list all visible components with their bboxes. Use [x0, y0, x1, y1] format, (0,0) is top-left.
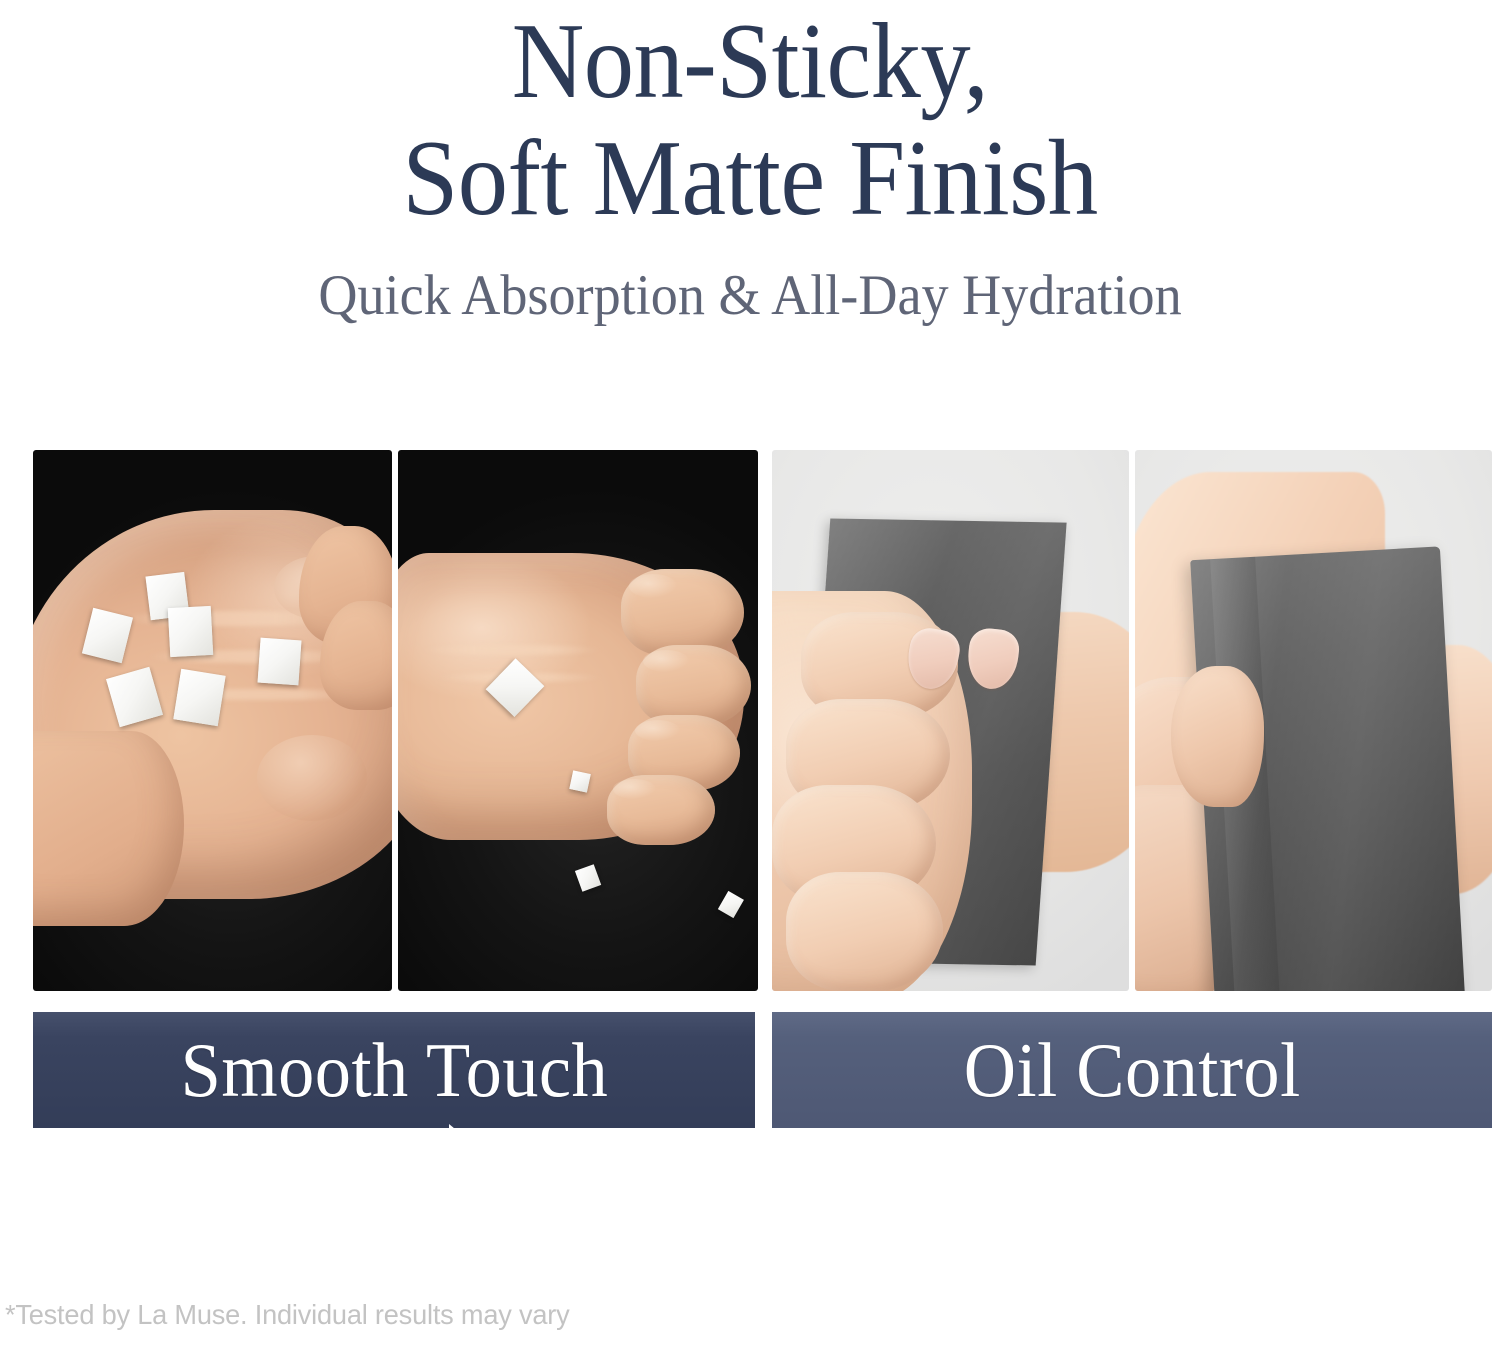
arrow-right-icon — [363, 1123, 504, 1216]
caption-label: Oil Control — [964, 1032, 1301, 1109]
header: Non-Sticky, Soft Matte Finish Quick Abso… — [0, 0, 1500, 328]
paper-square — [168, 606, 214, 657]
caption-label: Smooth Touch — [180, 1032, 608, 1109]
paper-square — [173, 669, 225, 726]
paper-square-falling — [569, 770, 591, 793]
caption-bar-smooth-touch: Smooth Touch — [33, 1012, 755, 1128]
photo-hand-with-paper-squares — [33, 450, 392, 991]
photo-blotting-paper-clean — [1135, 450, 1492, 991]
paper-square — [258, 638, 302, 686]
page-subtitle: Quick Absorption & All-Day Hydration — [38, 237, 1463, 328]
comparison-grid — [33, 450, 1492, 991]
headline-line-1: Non-Sticky, — [53, 4, 1448, 121]
paper-square-falling — [575, 864, 601, 891]
oil-control-photo-pair — [772, 450, 1492, 991]
caption-bar-oil-control: Oil Control — [772, 1012, 1492, 1128]
paper-square-falling — [718, 890, 744, 917]
photo-fist-squares-fallen — [398, 450, 758, 991]
headline-line-2: Soft Matte Finish — [53, 121, 1448, 238]
disclaimer-footnote: *Tested by La Muse. Individual results m… — [5, 1299, 570, 1331]
gripping-finger — [1171, 666, 1264, 807]
photo-blotting-paper-pressed — [772, 450, 1129, 991]
smooth-touch-photo-pair — [33, 450, 758, 991]
page-title: Non-Sticky, Soft Matte Finish — [0, 0, 1500, 237]
